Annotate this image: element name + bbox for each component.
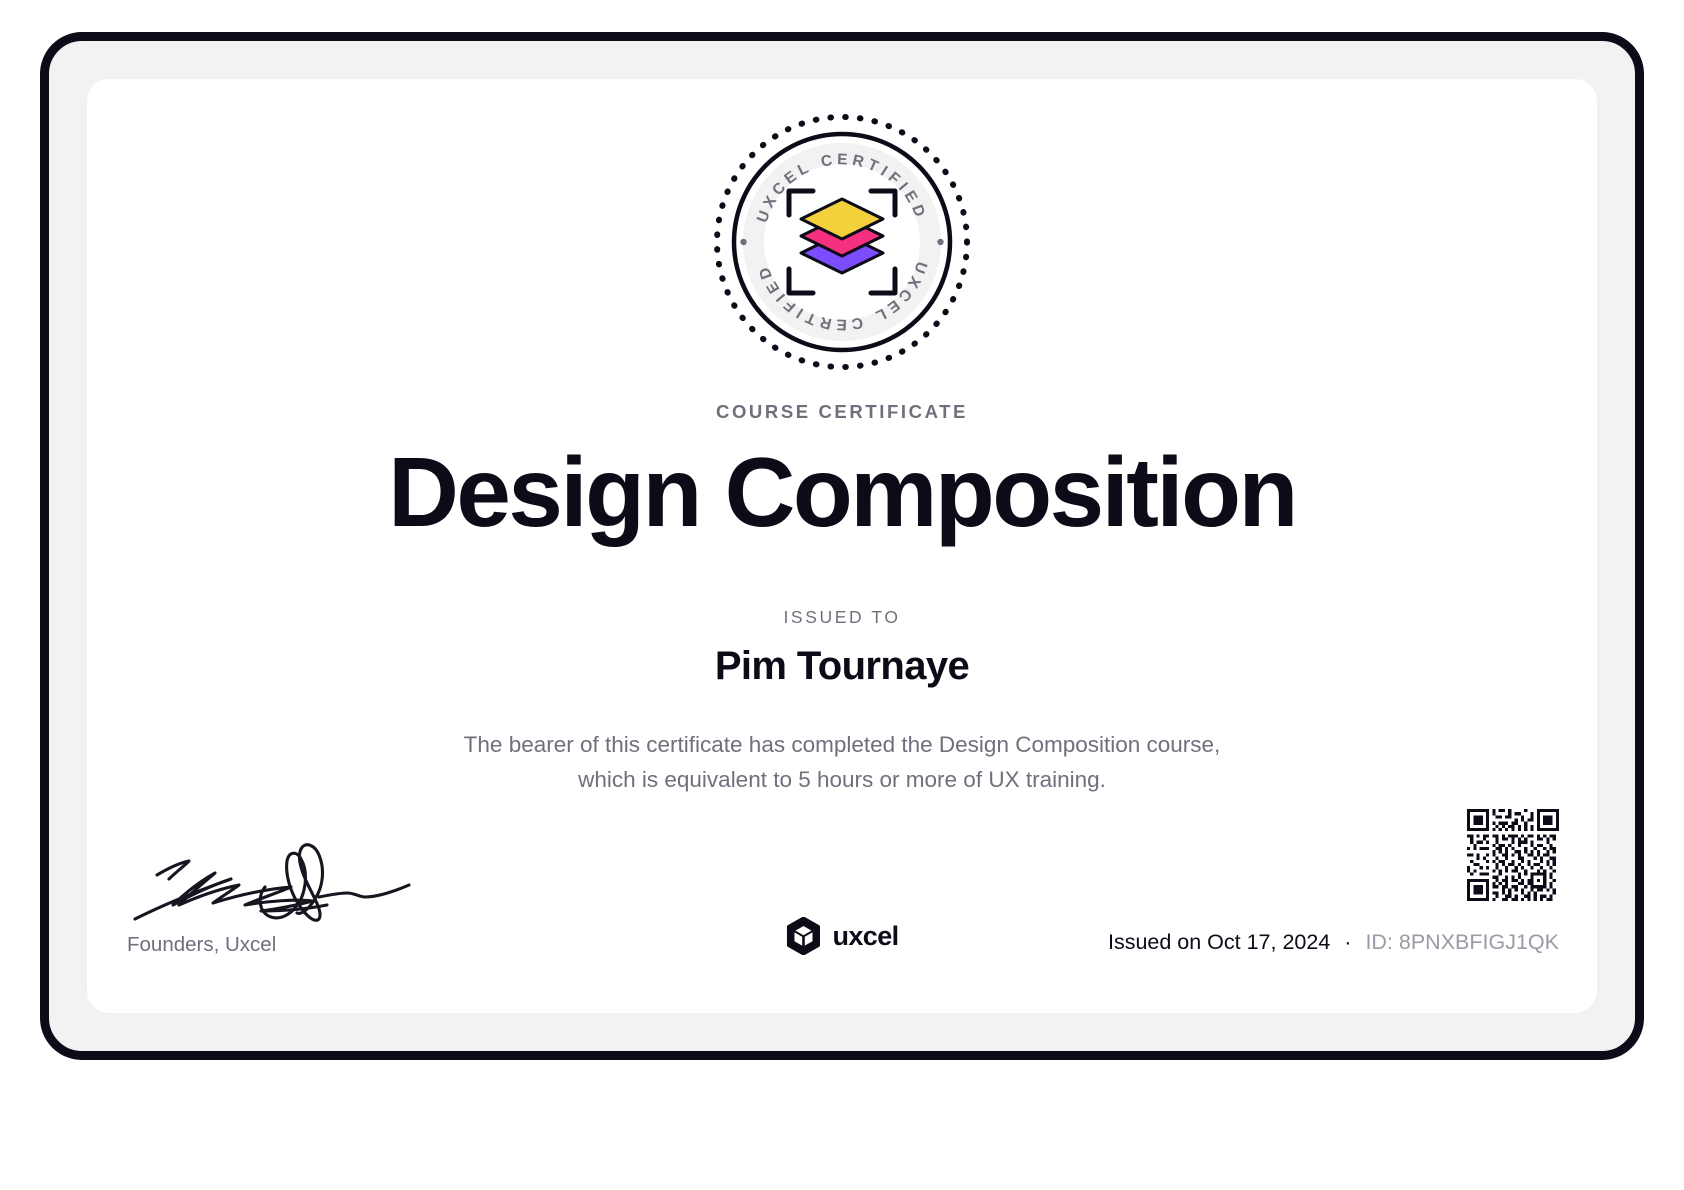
brand-name: uxcel — [832, 921, 898, 952]
signature-caption: Founders, Uxcel — [127, 933, 547, 957]
certificate-type-label: COURSE CERTIFICATE — [87, 401, 1597, 423]
description-line-2: which is equivalent to 5 hours or more o… — [87, 762, 1597, 797]
description-line-1: The bearer of this certificate has compl… — [87, 727, 1597, 762]
recipient-name: Pim Tournaye — [87, 644, 1597, 689]
issue-meta: Issued on Oct 17, 2024 · ID: 8PNXBFIGJ1Q… — [1108, 930, 1559, 955]
seal-dot-left — [740, 239, 746, 245]
meta-separator: · — [1344, 930, 1351, 954]
certificate-card: UXCEL CERTIFIED UXCEL CERTIFIED — [87, 79, 1597, 1013]
signature-block: Founders, Uxcel — [127, 841, 547, 957]
certificate-description: The bearer of this certificate has compl… — [87, 727, 1597, 797]
certified-seal: UXCEL CERTIFIED UXCEL CERTIFIED — [711, 111, 973, 373]
brand-logo: uxcel — [785, 917, 898, 955]
signature-images — [127, 841, 547, 927]
certificate-frame: UXCEL CERTIFIED UXCEL CERTIFIED — [40, 32, 1644, 1060]
seal-dot-right — [937, 239, 943, 245]
uxcel-cube-icon — [785, 917, 821, 955]
issued-on-date: Issued on Oct 17, 2024 — [1108, 930, 1330, 954]
certificate-id: ID: 8PNXBFIGJ1QK — [1365, 930, 1559, 954]
page-title: Design Composition — [87, 439, 1597, 547]
qr-code[interactable] — [1467, 809, 1559, 901]
signature-two-icon — [253, 841, 553, 927]
issued-to-label: ISSUED TO — [87, 607, 1597, 628]
